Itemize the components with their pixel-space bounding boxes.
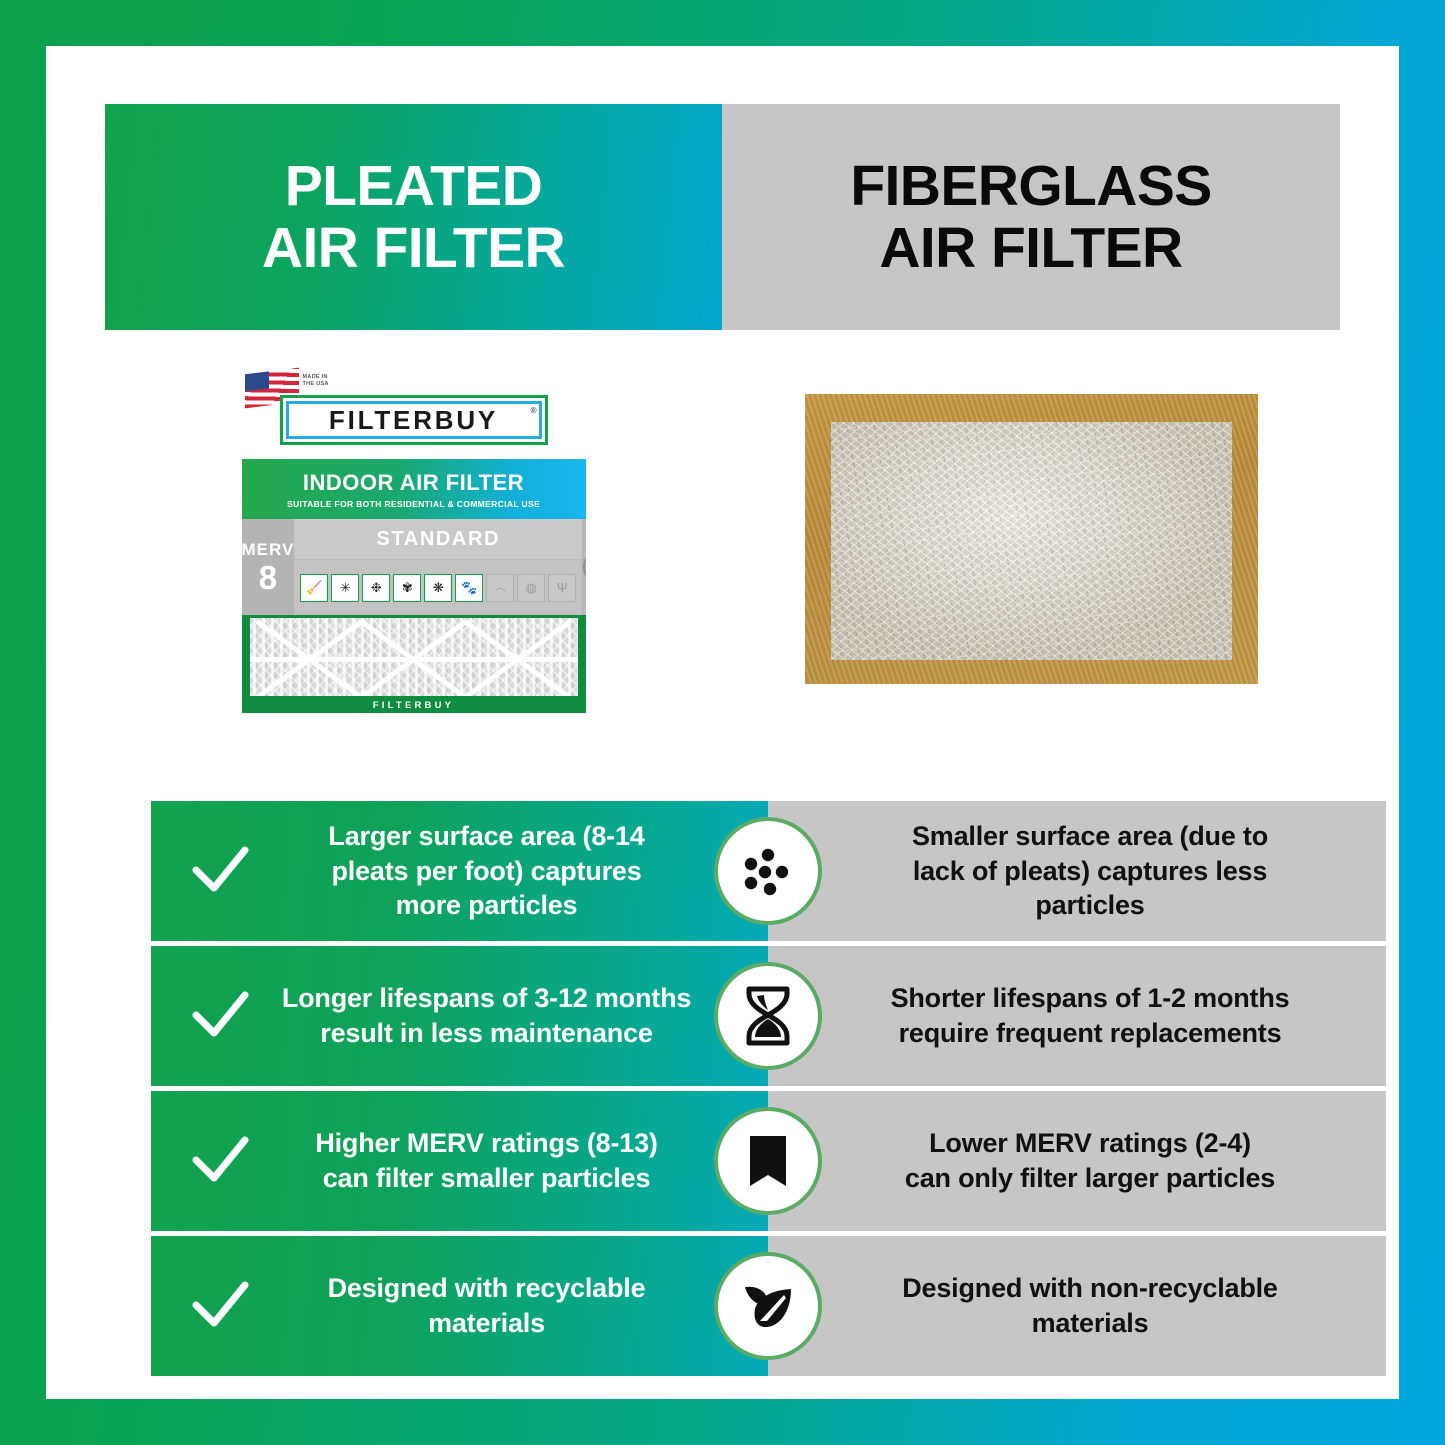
checkmark-icon xyxy=(189,840,251,902)
ul-certification: UL xyxy=(582,519,585,615)
pleated-benefit-cell: Designed with recyclable materials xyxy=(151,1236,768,1376)
smoke-icon: ෴ xyxy=(486,574,514,602)
package-spec-middle: STANDARD 🧹 ✳ ❉ ✾ ❋ 🐾 ෴ ◍ Ψ xyxy=(294,519,582,615)
dust-lint-icon: 🧹 xyxy=(300,574,328,602)
capability-icon-strip: 🧹 ✳ ❉ ✾ ❋ 🐾 ෴ ◍ Ψ xyxy=(294,560,582,615)
fiberglass-filter-image xyxy=(805,394,1258,684)
package-spec-section: MERV 8 STANDARD 🧹 ✳ ❉ ✾ ❋ 🐾 xyxy=(242,519,586,615)
checkmark-icon xyxy=(189,1130,251,1192)
made-in-usa-label: MADE IN THE USA xyxy=(303,374,329,389)
product-image-row: MADE IN THE USA FILTERBUY ® INDOOR AIR F… xyxy=(105,330,1340,748)
checkmark-icon xyxy=(189,985,251,1047)
merv-label: MERV xyxy=(242,540,295,560)
header-fiberglass-title: FIBERGLASS AIR FILTER xyxy=(850,155,1211,279)
merv-value: 8 xyxy=(259,561,277,594)
ul-certification-icon: UL xyxy=(583,550,585,584)
checkmark-icon xyxy=(189,1275,251,1337)
fiberglass-drawback-text: Lower MERV ratings (2-4) can only filter… xyxy=(905,1126,1275,1195)
support-diamond xyxy=(362,618,466,696)
virus-icon: Ψ xyxy=(548,574,576,602)
filterbuy-logo: FILTERBUY ® xyxy=(280,395,548,445)
header-pleated: PLEATED AIR FILTER xyxy=(105,104,722,330)
header-fiberglass: FIBERGLASS AIR FILTER xyxy=(722,104,1340,330)
fiberglass-drawback-text: Shorter lifespans of 1-2 months require … xyxy=(891,981,1290,1050)
fiberglass-drawback-cell: Smaller surface area (due to lack of ple… xyxy=(768,801,1386,941)
package-indoor-band: INDOOR AIR FILTER SUITABLE FOR BOTH RESI… xyxy=(242,459,586,519)
bacteria-icon: ◍ xyxy=(517,574,545,602)
fiberglass-drawback-cell: Lower MERV ratings (2-4) can only filter… xyxy=(768,1091,1386,1231)
pollen-particles-icon: ✳ xyxy=(331,574,359,602)
comparison-row: Designed with recyclable materials Desig… xyxy=(151,1236,1386,1376)
header-band: PLEATED AIR FILTER FIBERGLASS AIR FILTER xyxy=(105,104,1340,330)
comparison-row: Longer lifespans of 3-12 months result i… xyxy=(151,946,1386,1086)
fiberglass-drawback-text: Smaller surface area (due to lack of ple… xyxy=(912,819,1268,923)
lint-icon: ❋ xyxy=(424,574,452,602)
comparison-row: Higher MERV ratings (8-13) can filter sm… xyxy=(151,1091,1386,1231)
merv-badge: MERV 8 xyxy=(242,519,295,615)
pleated-benefit-text: Longer lifespans of 3-12 months result i… xyxy=(251,981,722,1050)
pleated-benefit-text: Higher MERV ratings (8-13) can filter sm… xyxy=(251,1126,722,1195)
pleated-benefit-cell: Longer lifespans of 3-12 months result i… xyxy=(151,946,768,1086)
package-top-section: MADE IN THE USA FILTERBUY ® xyxy=(242,365,586,459)
pleated-benefit-cell: Larger surface area (8-14 pleats per foo… xyxy=(151,801,768,941)
pleated-product-cell: MADE IN THE USA FILTERBUY ® INDOOR AIR F… xyxy=(105,330,722,748)
fiberglass-mesh xyxy=(831,422,1232,660)
bookmark-icon xyxy=(714,1107,822,1215)
infographic-root: PLEATED AIR FILTER FIBERGLASS AIR FILTER… xyxy=(0,0,1445,1445)
filterbuy-logo-text: FILTERBUY xyxy=(329,405,498,436)
infographic-canvas: PLEATED AIR FILTER FIBERGLASS AIR FILTER… xyxy=(46,46,1399,1399)
fiberglass-drawback-text: Designed with non-recyclable materials xyxy=(902,1271,1278,1340)
pleated-benefit-cell: Higher MERV ratings (8-13) can filter sm… xyxy=(151,1091,768,1231)
hourglass-icon xyxy=(714,962,822,1070)
fiberglass-drawback-cell: Shorter lifespans of 1-2 months require … xyxy=(768,946,1386,1086)
pleated-media-view: FILTERBUY xyxy=(242,615,586,713)
support-diamond xyxy=(466,618,570,696)
comparison-row: Larger surface area (8-14 pleats per foo… xyxy=(151,801,1386,941)
registered-trademark-icon: ® xyxy=(531,406,537,415)
fiberglass-drawback-cell: Designed with non-recyclable materials xyxy=(768,1236,1386,1376)
comparison-table: Larger surface area (8-14 pleats per foo… xyxy=(151,801,1386,1376)
pleated-benefit-text: Designed with recyclable materials xyxy=(251,1271,722,1340)
leaves-icon xyxy=(714,1252,822,1360)
particles-icon xyxy=(714,817,822,925)
fiberglass-product-cell xyxy=(722,330,1340,748)
pet-dander-icon: 🐾 xyxy=(455,574,483,602)
pleated-filter-package-image: MADE IN THE USA FILTERBUY ® INDOOR AIR F… xyxy=(242,365,586,713)
mold-icon: ❉ xyxy=(362,574,390,602)
package-grade-label: STANDARD xyxy=(294,519,582,560)
package-band-title: INDOOR AIR FILTER xyxy=(303,470,524,496)
pleated-benefit-text: Larger surface area (8-14 pleats per foo… xyxy=(251,819,722,923)
dust-mites-icon: ✾ xyxy=(393,574,421,602)
support-diamond xyxy=(258,618,362,696)
header-pleated-title: PLEATED AIR FILTER xyxy=(262,155,565,279)
package-band-subtitle: SUITABLE FOR BOTH RESIDENTIAL & COMMERCI… xyxy=(287,499,540,509)
package-bottom-brand: FILTERBUY xyxy=(250,700,578,711)
pleat-texture xyxy=(250,618,578,696)
